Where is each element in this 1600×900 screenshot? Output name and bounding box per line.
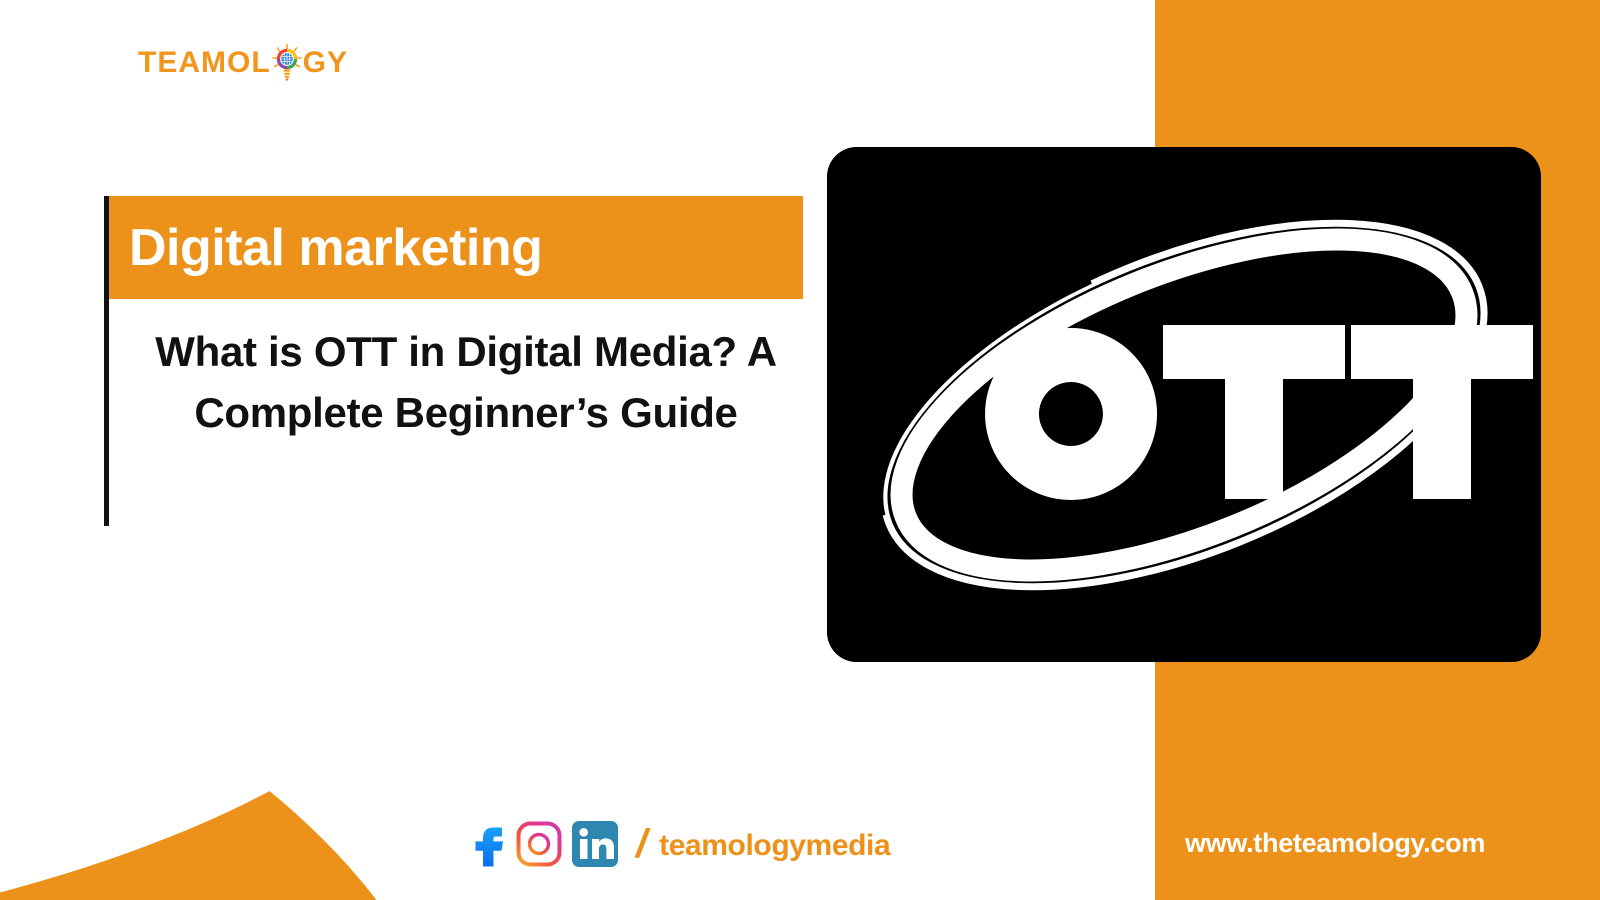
facebook-icon[interactable] xyxy=(472,820,506,873)
poster-canvas: TEAMOL xyxy=(0,0,1600,900)
category-badge: Digital marketing xyxy=(109,196,803,299)
ott-hero-card xyxy=(827,147,1541,662)
website-url[interactable]: www.theteamology.com xyxy=(1185,828,1485,859)
category-badge-label: Digital marketing xyxy=(129,218,542,278)
page-title: What is OTT in Digital Media? A Complete… xyxy=(116,322,816,444)
lightbulb-icon xyxy=(272,44,302,82)
linkedin-icon[interactable] xyxy=(572,821,618,872)
instagram-icon[interactable] xyxy=(516,821,562,872)
social-handle[interactable]: teamologymedia xyxy=(659,829,890,863)
footer-social-row: / teamologymedia xyxy=(472,818,890,874)
handle-separator: / xyxy=(636,824,647,864)
logo-text-left: TEAMOL xyxy=(138,42,271,84)
brand-logo[interactable]: TEAMOL xyxy=(138,42,348,84)
logo-text-right: GY xyxy=(303,42,348,84)
